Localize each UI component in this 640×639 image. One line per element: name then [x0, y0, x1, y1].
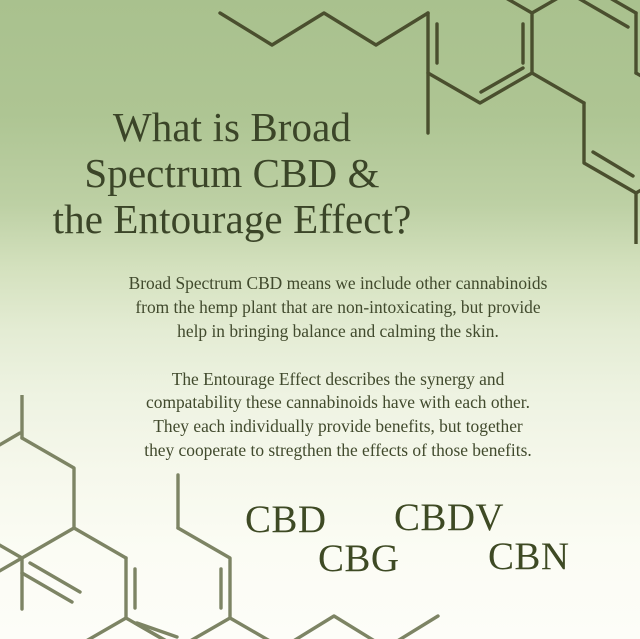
paragraph-broad-spectrum: Broad Spectrum CBD means we include othe… — [60, 272, 616, 344]
paragraph-two-line-1: The Entourage Effect describes the syner… — [60, 368, 616, 392]
cannabinoid-label-cbdv: CBDV — [394, 498, 504, 537]
page-title: What is Broad Spectrum CBD & the Entoura… — [6, 105, 458, 243]
paragraph-two-line-4: they cooperate to stregthen the effects … — [60, 439, 616, 463]
paragraph-two-line-2: compatability these cannabinoids have wi… — [60, 391, 616, 415]
paragraph-one-line-2: from the hemp plant that are non-intoxic… — [60, 296, 616, 320]
page-title-line-3: the Entourage Effect? — [6, 197, 458, 243]
page-title-line-1: What is Broad — [6, 105, 458, 151]
body-copy: Broad Spectrum CBD means we include othe… — [60, 272, 616, 463]
paragraph-one-line-1: Broad Spectrum CBD means we include othe… — [60, 272, 616, 296]
cannabinoid-label-cbg: CBG — [318, 539, 399, 578]
cannabinoid-label-cbd: CBD — [245, 500, 326, 539]
page-title-line-2: Spectrum CBD & — [6, 151, 458, 197]
poster-root: What is Broad Spectrum CBD & the Entoura… — [0, 0, 640, 639]
cannabinoid-label-cbn: CBN — [488, 537, 569, 576]
paragraph-one-line-3: help in bringing balance and calming the… — [60, 320, 616, 344]
paragraph-entourage-effect: The Entourage Effect describes the syner… — [60, 368, 616, 463]
paragraph-two-line-3: They each individually provide benefits,… — [60, 415, 616, 439]
